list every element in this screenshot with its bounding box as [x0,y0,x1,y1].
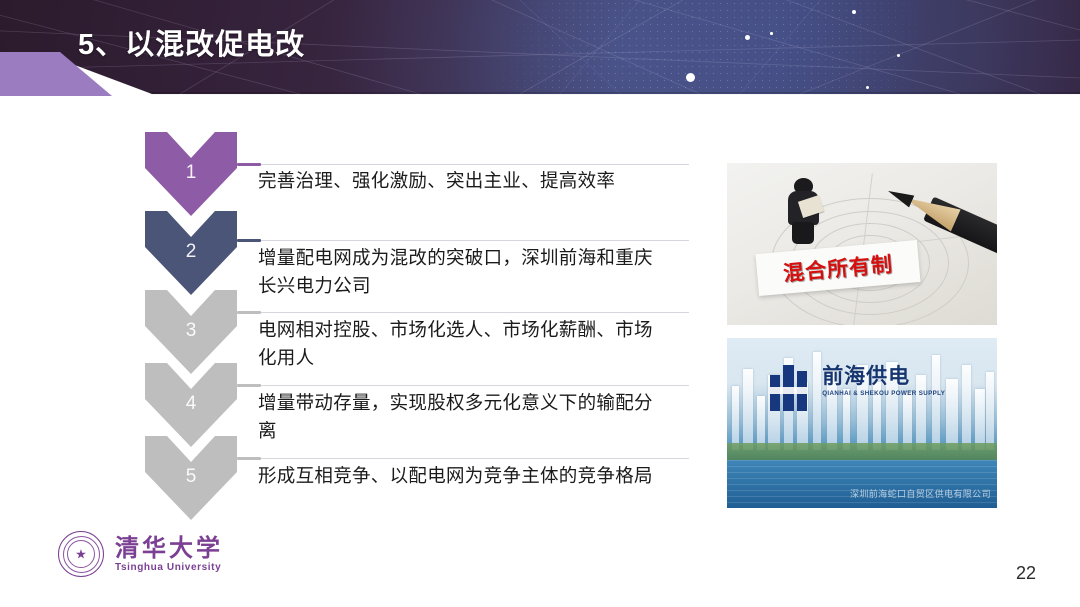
qianhai-power-supply-photo: 前海供电 QIANHAI & SHEKOU POWER SUPPLY 深圳前海蛇… [727,338,997,508]
tsinghua-logo-text: 清华大学 Tsinghua University [115,535,223,573]
step-divider [237,458,689,459]
qianhai-logo: 前海供电 QIANHAI & SHEKOU POWER SUPPLY [770,365,945,411]
skyline-tower [732,386,739,451]
header-dot [897,54,900,57]
step-text: 增量配电网成为混改的突破口，深圳前海和重庆长兴电力公司 [258,245,658,301]
step-divider-accent [237,163,261,166]
qianhai-logo-cn: 前海供电 [822,365,945,387]
figurine-legs [792,222,814,244]
step-text: 形成互相竞争、以配电网为竞争主体的竞争格局 [258,463,658,491]
step-text: 增量带动存量，实现股权多元化意义下的输配分离 [258,390,658,446]
photo-watermark: 深圳前海蛇口自贸区供电有限公司 [850,487,991,500]
qianhai-logo-text: 前海供电 QIANHAI & SHEKOU POWER SUPPLY [822,365,945,397]
step-text: 电网相对控股、市场化选人、市场化薪酬、市场化用人 [258,317,658,373]
step-arrow-4[interactable]: 4 [145,363,237,447]
skyline-tower [962,365,971,450]
header-edge-shadow [150,92,1080,95]
header-dot [852,10,856,14]
step-arrow-5[interactable]: 5 [145,436,237,520]
pencil-tip [886,185,915,207]
skyline-tower [986,372,994,450]
qianhai-logo-en: QIANHAI & SHEKOU POWER SUPPLY [822,390,945,397]
mixed-ownership-target-photo: 混合所有制 [727,163,997,325]
tsinghua-seal-icon: ★ [58,531,104,577]
header-dot-grid [500,0,930,94]
step-divider-accent [237,311,261,314]
university-name-cn: 清华大学 [115,535,223,560]
qianhai-logo-mark [770,365,814,411]
step-divider [237,240,689,241]
step-divider-accent [237,239,261,242]
page-number: 22 [1016,563,1036,584]
skyline-tower [975,389,985,450]
tsinghua-logo: ★ 清华大学 Tsinghua University [58,531,223,577]
step-number: 2 [145,241,237,263]
university-name-en: Tsinghua University [115,562,223,573]
slide-header: 5、以混改促电改 [0,0,1080,96]
logo-bar [770,387,807,394]
step-divider-accent [237,384,261,387]
slide-canvas: 5、以混改促电改 1 完善治理、强化激励、突出主业、提高效率 2 增量配电网成为… [0,0,1080,607]
skyline-tower [757,396,765,450]
step-arrow-3[interactable]: 3 [145,290,237,374]
step-divider [237,385,689,386]
step-divider [237,164,689,165]
step-number: 5 [145,466,237,488]
header-dot [866,86,869,89]
skyline-tower [946,379,958,450]
mixed-ownership-label-text: 混合所有制 [782,249,894,288]
skyline-tower [743,369,753,451]
page-title: 5、以混改促电改 [78,21,305,63]
header-dot [745,35,750,40]
step-number: 1 [145,162,237,184]
step-arrow-1[interactable]: 1 [145,132,237,216]
header-dot [770,32,773,35]
harbour-water [727,460,997,508]
header-dot [686,73,695,82]
businessman-figurine [784,178,824,244]
step-divider [237,312,689,313]
seal-star-icon: ★ [75,548,87,561]
step-arrow-2[interactable]: 2 [145,211,237,295]
step-number: 4 [145,393,237,415]
step-divider-accent [237,457,261,460]
step-text: 完善治理、强化激励、突出主业、提高效率 [258,168,688,196]
step-number: 3 [145,320,237,342]
